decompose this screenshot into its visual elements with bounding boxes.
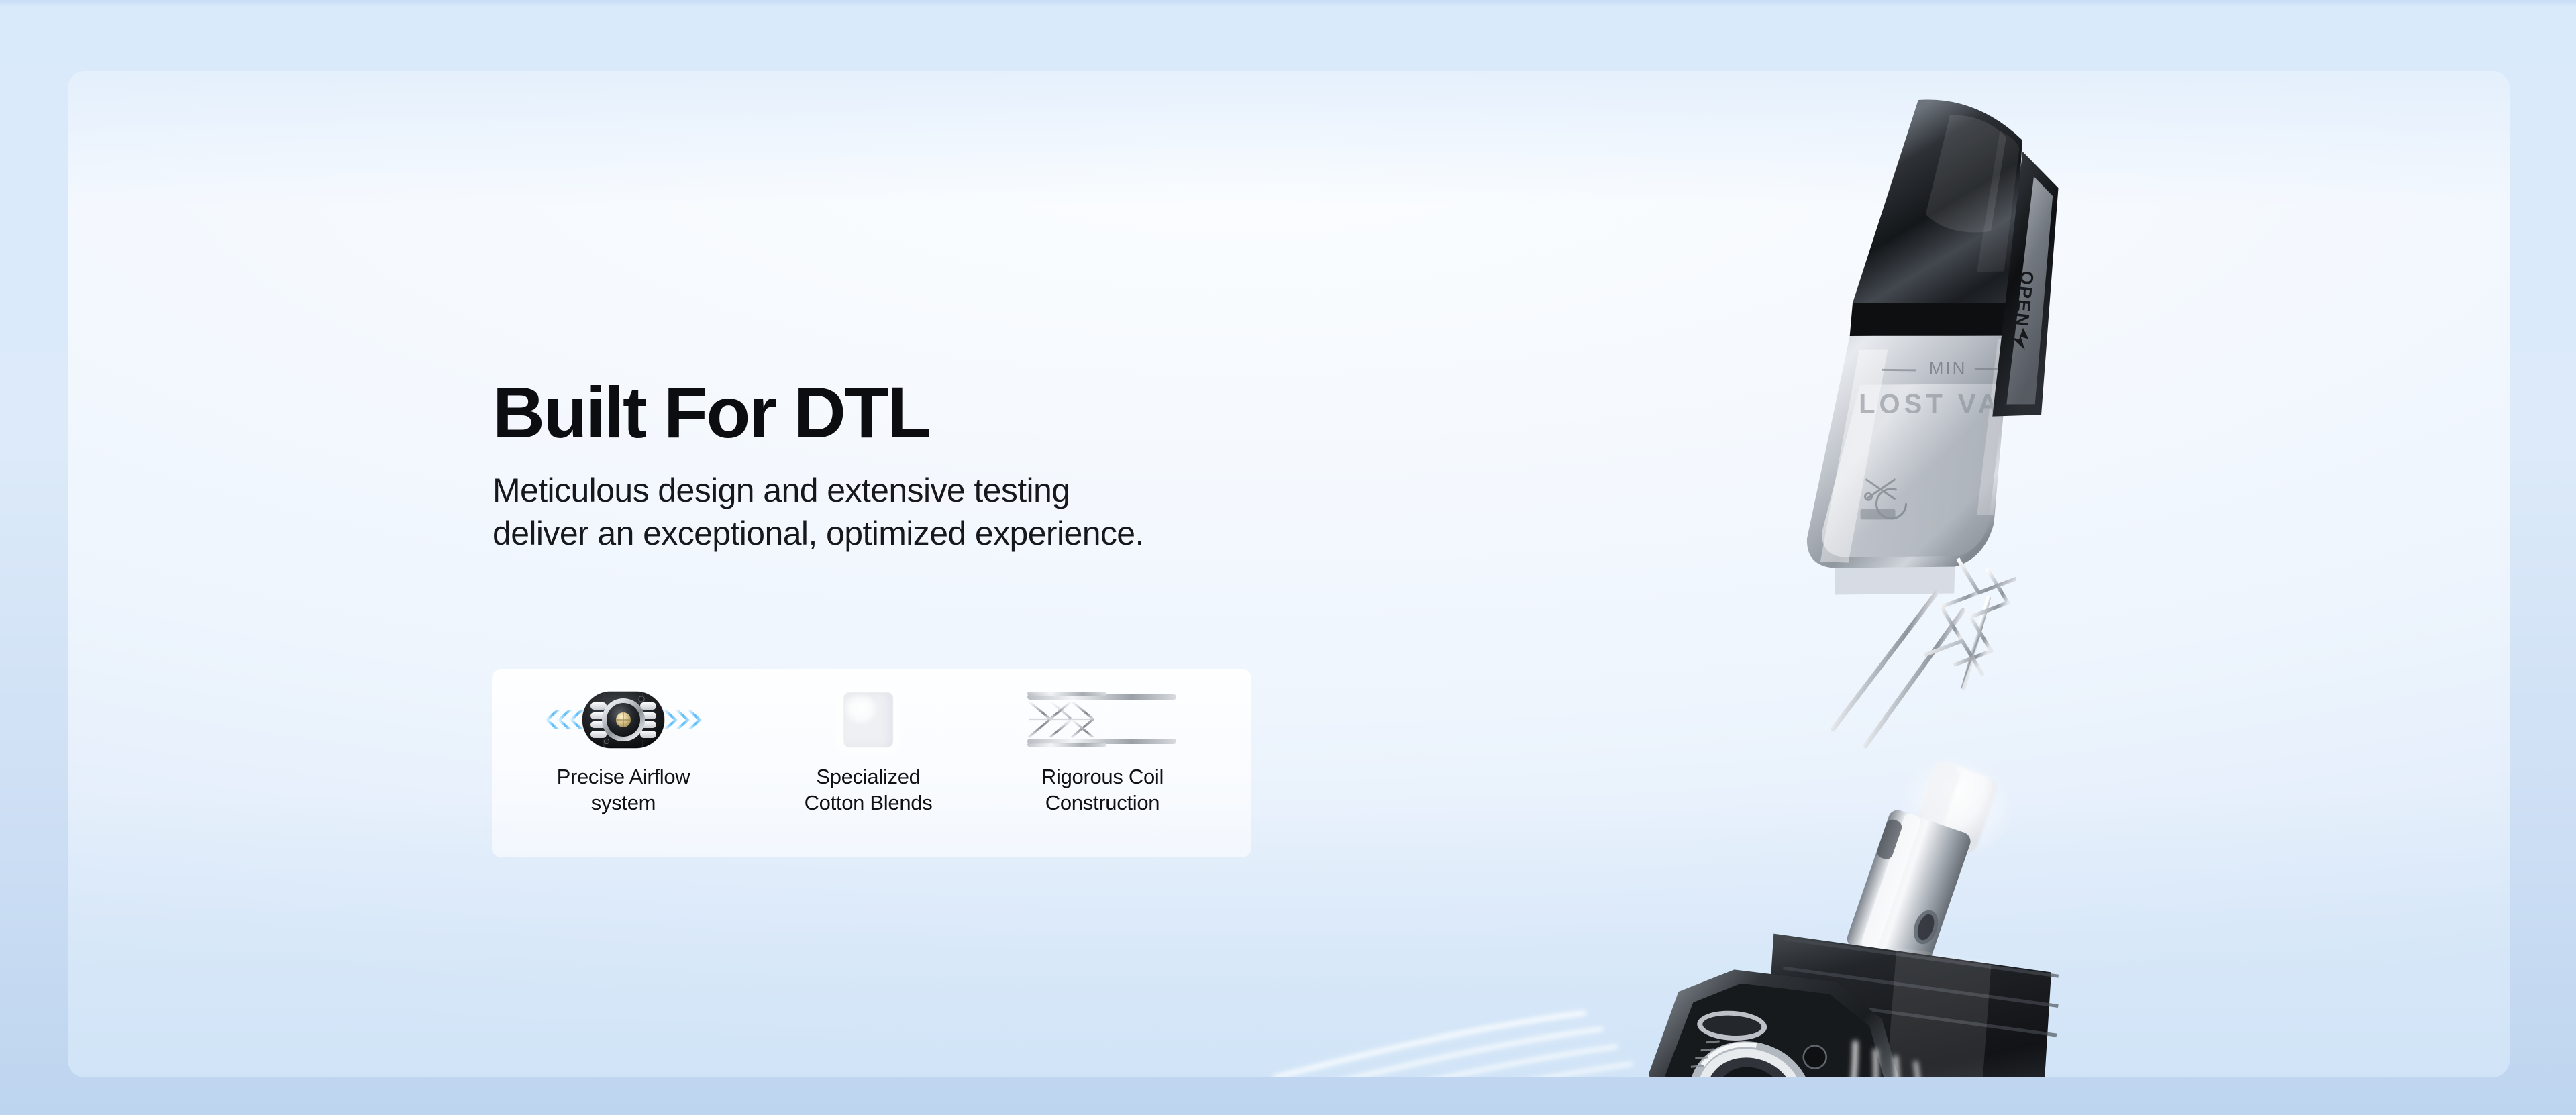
svg-text:MIN: MIN (1929, 358, 1967, 378)
feature-item-cotton-blends[interactable]: Specialized Cotton Blends (755, 669, 982, 857)
card-bottom-gradient (68, 796, 2510, 1077)
mesh-coil-icon (1022, 684, 1183, 756)
copy-block: Built For DTL Meticulous design and exte… (493, 376, 1432, 555)
feature-list-panel: Precise Airflow system Specialized Cotto… (492, 669, 1251, 857)
feature-label: Rigorous Coil Construction (1041, 764, 1164, 816)
banner-card: Built For DTL Meticulous design and exte… (68, 71, 2510, 1077)
svg-text:OPEN: OPEN (2012, 270, 2038, 328)
page-subtitle: Meticulous design and extensive testing … (493, 449, 1432, 555)
feature-item-coil-construction[interactable]: Rigorous Coil Construction (982, 669, 1223, 857)
product-feature-banner: Built For DTL Meticulous design and exte… (0, 0, 2576, 1115)
page-title: Built For DTL (493, 376, 1432, 449)
feature-item-precise-airflow[interactable]: Precise Airflow system (492, 669, 755, 857)
svg-text:LOST VAPE: LOST VAPE (1859, 390, 2045, 419)
top-divider (0, 0, 2576, 6)
feature-label: Precise Airflow system (557, 764, 690, 816)
feature-label: Specialized Cotton Blends (805, 764, 933, 816)
card-top-gradient (68, 71, 2510, 205)
cotton-wick-icon (843, 684, 893, 756)
airflow-ring-icon (539, 684, 707, 756)
